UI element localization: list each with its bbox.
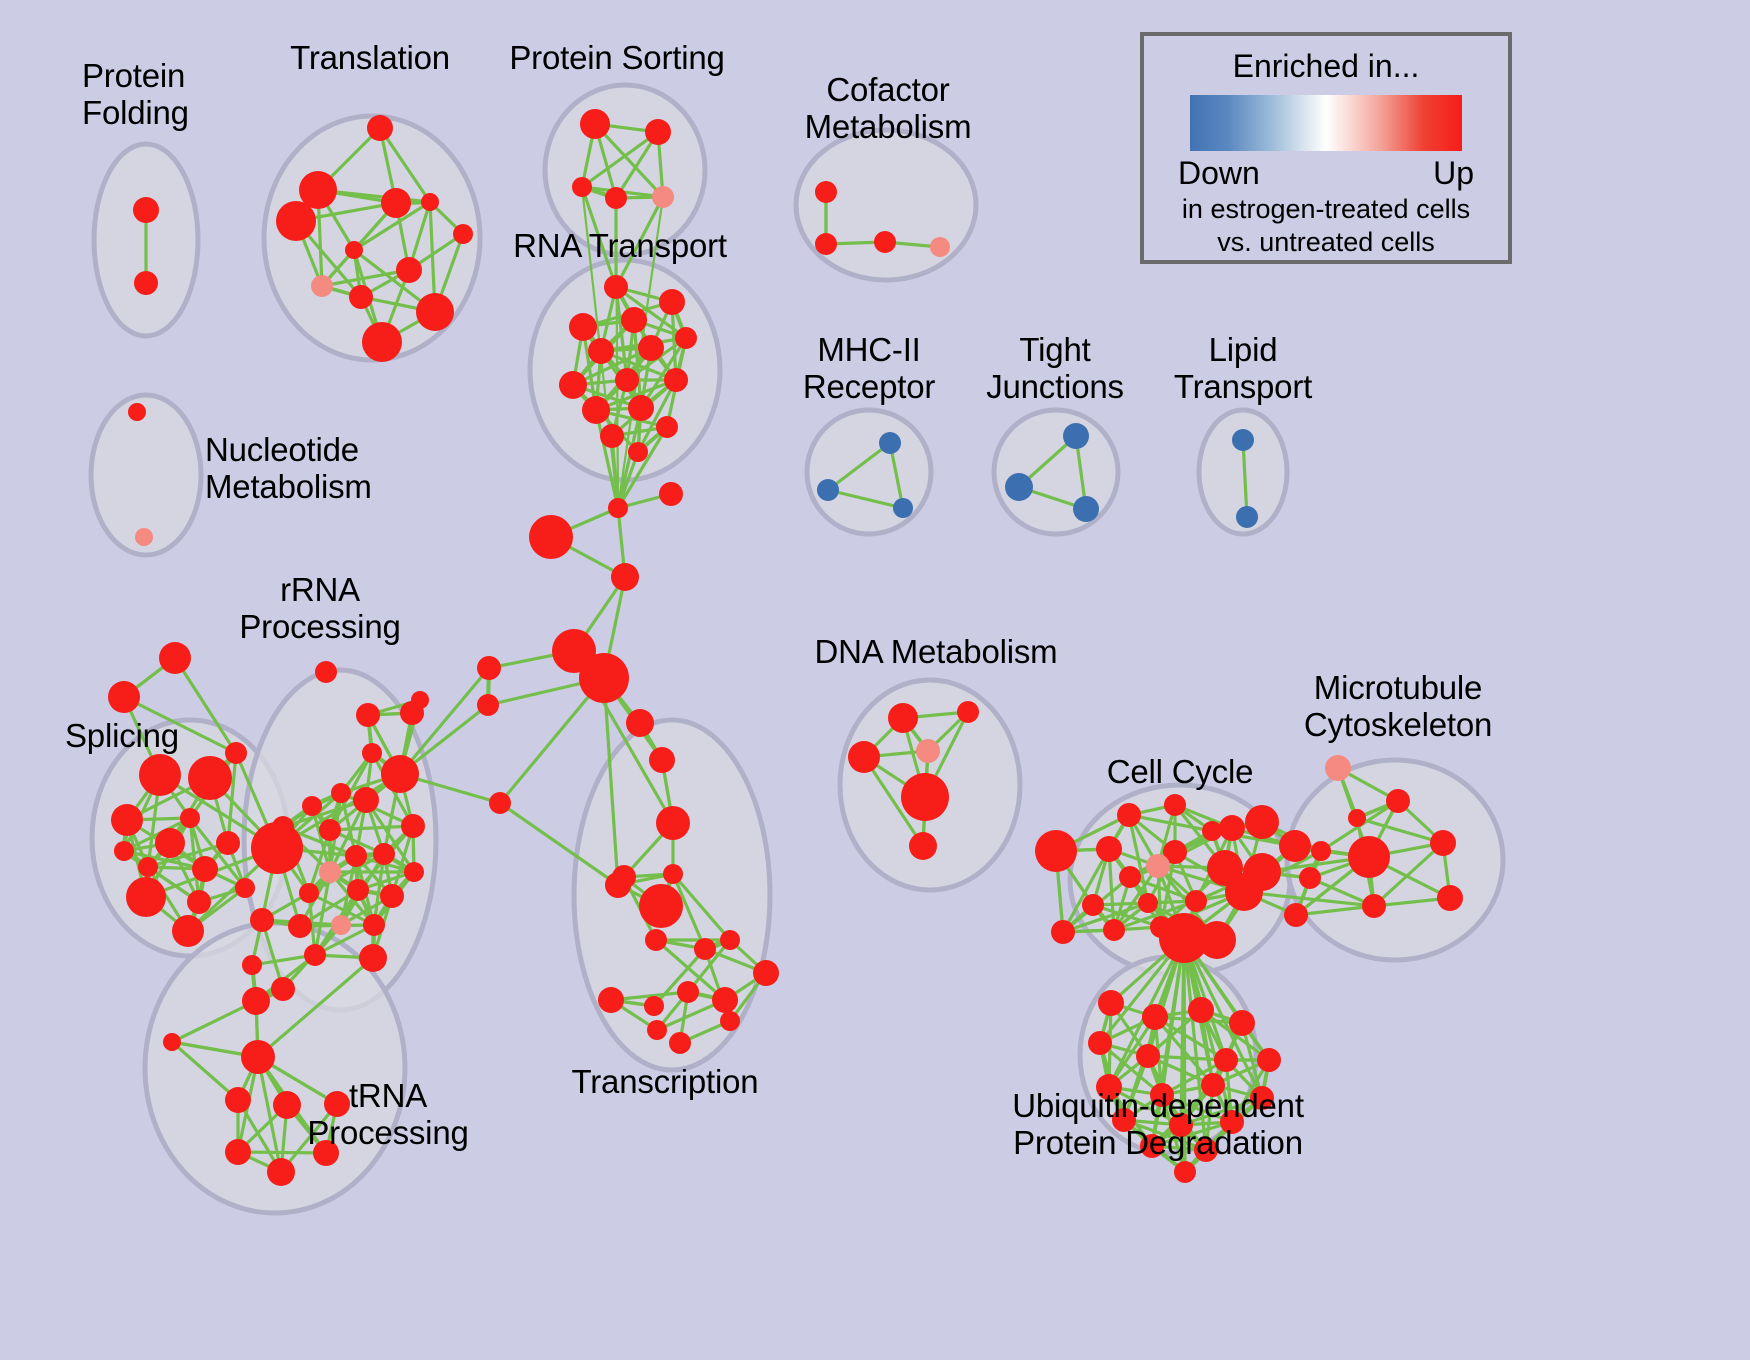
network-node-cell-cycle — [1082, 894, 1104, 916]
network-node-transcription — [694, 938, 716, 960]
network-node-splicing — [225, 742, 247, 764]
cluster-label-nucleotide-metabolism: Nucleotide Metabolism — [205, 432, 372, 506]
network-node-chain — [579, 653, 629, 703]
network-node-trna-processing — [225, 1087, 251, 1113]
network-node-translation — [311, 275, 333, 297]
network-node-rrna-processing — [331, 783, 351, 803]
network-node-cofactor-metabolism — [815, 181, 837, 203]
network-node-ubiquitin-protein-degradation — [1229, 1010, 1255, 1036]
network-node-cell-cycle — [1051, 920, 1075, 944]
network-node-microtubule-cytoskeleton — [1348, 809, 1366, 827]
network-node-transcription — [647, 1020, 667, 1040]
network-node-transcription — [626, 709, 654, 737]
network-node-rna-transport — [656, 416, 678, 438]
network-node-cell-cycle — [1119, 866, 1141, 888]
network-node-translation — [421, 193, 439, 211]
cluster-label-mhc-ii-receptor: MHC-II Receptor — [803, 332, 935, 406]
network-node-translation — [367, 115, 393, 141]
network-node-splicing — [192, 856, 218, 882]
network-node-translation — [362, 322, 402, 362]
cluster-label-microtubule-cytoskeleton: Microtubule Cytoskeleton — [1304, 670, 1492, 744]
legend-high-label: Up — [1433, 155, 1474, 192]
network-node-protein-sorting — [652, 186, 674, 208]
network-node-trna-processing — [225, 1139, 251, 1165]
network-node-cell-cycle — [1219, 815, 1245, 841]
cluster-label-rrna-processing: rRNA Processing — [239, 572, 400, 646]
network-node-rrna-processing — [401, 814, 425, 838]
network-node-rna-transport — [628, 442, 648, 462]
network-node-rna-transport — [569, 313, 597, 341]
network-node-rrna-processing — [345, 845, 367, 867]
network-node-splicing — [139, 754, 181, 796]
network-node-rna-transport — [588, 338, 614, 364]
network-node-rrna-processing — [319, 861, 341, 883]
network-node-trna-processing — [267, 1158, 295, 1186]
network-node-ubiquitin-protein-degradation — [1088, 1031, 1112, 1055]
network-node-rrna-processing — [315, 661, 337, 683]
network-node-cofactor-metabolism — [874, 231, 896, 253]
cluster-label-rna-transport: RNA Transport — [513, 228, 727, 265]
network-node-transcription — [656, 806, 690, 840]
network-node-transcription — [598, 987, 624, 1013]
cluster-label-transcription: Transcription — [572, 1064, 759, 1101]
network-node-cell-cycle — [1225, 873, 1263, 911]
cluster-label-lipid-transport: Lipid Transport — [1174, 332, 1312, 406]
network-node-cofactor-metabolism — [930, 237, 950, 257]
network-node-cell-cycle — [1185, 890, 1207, 912]
network-node-ubiquitin-protein-degradation — [1174, 1161, 1196, 1183]
network-node-splicing — [188, 756, 232, 800]
network-node-cell-cycle — [1279, 830, 1311, 862]
network-node-dna-metabolism — [901, 773, 949, 821]
network-node-chain — [477, 694, 499, 716]
network-node-splicing — [159, 642, 191, 674]
network-node-protein-sorting — [580, 109, 610, 139]
network-node-transcription — [753, 960, 779, 986]
network-node-ubiquitin-protein-degradation — [1136, 1044, 1160, 1068]
network-node-chain — [529, 515, 573, 559]
network-node-transcription — [720, 1011, 740, 1031]
network-node-tight-junctions — [1005, 473, 1033, 501]
network-node-rrna-processing — [353, 787, 379, 813]
cluster-label-tight-junctions: Tight Junctions — [986, 332, 1124, 406]
network-node-cell-cycle — [1096, 836, 1122, 862]
network-node-transcription — [663, 864, 683, 884]
network-node-transcription — [649, 747, 675, 773]
cluster-label-translation: Translation — [290, 40, 450, 77]
legend-endpoint-labels: Down Up — [1172, 153, 1480, 192]
network-node-mhc-ii-receptor — [879, 432, 901, 454]
network-node-dna-metabolism — [916, 739, 940, 763]
network-node-trna-processing — [241, 1040, 275, 1074]
cluster-label-dna-metabolism: DNA Metabolism — [815, 634, 1058, 671]
network-node-translation — [381, 188, 411, 218]
network-node-microtubule-cytoskeleton — [1430, 830, 1456, 856]
network-node-microtubule-cytoskeleton — [1437, 885, 1463, 911]
network-node-rrna-processing — [380, 884, 404, 908]
network-node-rrna-processing — [411, 691, 429, 709]
network-node-transcription — [669, 1032, 691, 1054]
cluster-label-protein-sorting: Protein Sorting — [509, 40, 724, 77]
network-node-splicing — [114, 841, 134, 861]
network-node-rrna-processing — [356, 703, 380, 727]
network-node-cell-cycle — [1164, 794, 1186, 816]
network-node-splicing — [138, 857, 158, 877]
network-node-rrna-processing — [404, 862, 424, 882]
network-node-rna-transport — [659, 289, 685, 315]
network-node-microtubule-cytoskeleton — [1362, 894, 1386, 918]
network-node-rrna-processing — [362, 743, 382, 763]
network-node-rrna-processing — [347, 879, 369, 901]
network-node-rna-transport — [621, 307, 647, 333]
network-node-splicing — [126, 877, 166, 917]
network-node-ubiquitin-protein-degradation — [1257, 1048, 1281, 1072]
network-node-translation — [276, 201, 316, 241]
legend-low-label: Down — [1178, 155, 1260, 192]
network-node-translation — [416, 293, 454, 331]
network-node-rrna-processing — [359, 944, 387, 972]
network-node-rrna-processing — [304, 944, 326, 966]
network-node-microtubule-cytoskeleton — [1348, 836, 1390, 878]
network-node-rna-transport — [582, 396, 610, 424]
network-node-transcription — [645, 929, 667, 951]
legend-color-gradient-bar — [1190, 95, 1462, 151]
network-node-cell-cycle — [1138, 893, 1158, 913]
network-node-chain — [608, 498, 628, 518]
network-node-cell-cycle — [1146, 854, 1170, 878]
network-node-splicing — [108, 681, 140, 713]
network-node-translation — [396, 257, 422, 283]
network-node-transcription — [677, 981, 699, 1003]
network-node-rrna-processing — [381, 755, 419, 793]
enrichment-map-figure: Protein FoldingTranslationProtein Sortin… — [0, 0, 1750, 1360]
network-node-microtubule-cytoskeleton — [1311, 841, 1331, 861]
network-node-chain — [659, 482, 683, 506]
network-node-protein-folding — [134, 271, 158, 295]
network-node-nucleotide-metabolism — [128, 403, 146, 421]
network-node-rna-transport — [615, 368, 639, 392]
network-node-mhc-ii-receptor — [817, 479, 839, 501]
network-node-nucleotide-metabolism — [135, 528, 153, 546]
cluster-label-trna-processing: tRNA Processing — [307, 1078, 468, 1152]
network-node-tight-junctions — [1073, 496, 1099, 522]
network-node-lipid-transport — [1236, 506, 1258, 528]
network-node-translation — [349, 285, 373, 309]
cluster-ellipse-cofactor-metabolism — [796, 130, 976, 280]
network-node-rrna-processing — [331, 915, 351, 935]
legend-box: Enriched in... Down Up in estrogen-treat… — [1140, 32, 1512, 264]
cluster-ellipse-tight-junctions — [994, 410, 1118, 534]
network-node-translation — [453, 224, 473, 244]
network-node-rrna-processing — [299, 883, 319, 903]
network-node-trna-processing — [242, 987, 270, 1015]
network-node-rna-transport — [559, 371, 587, 399]
network-node-cell-cycle — [1198, 921, 1236, 959]
network-node-microtubule-cytoskeleton — [1325, 755, 1351, 781]
network-node-chain — [477, 656, 501, 680]
network-edge — [238, 1152, 326, 1153]
network-node-microtubule-cytoskeleton — [1386, 789, 1410, 813]
network-node-rrna-processing — [302, 796, 322, 816]
network-node-cell-cycle — [1117, 803, 1141, 827]
network-node-rna-transport — [600, 424, 624, 448]
network-node-rna-transport — [628, 395, 654, 421]
network-node-chain — [611, 563, 639, 591]
network-node-rrna-processing — [363, 914, 385, 936]
legend-caption-line-1: in estrogen-treated cells — [1144, 194, 1508, 225]
network-node-protein-sorting — [572, 177, 592, 197]
cluster-label-cofactor-metabolism: Cofactor Metabolism — [805, 72, 972, 146]
network-node-microtubule-cytoskeleton — [1299, 867, 1321, 889]
network-node-translation — [345, 241, 363, 259]
network-node-rna-transport — [675, 327, 697, 349]
network-node-ubiquitin-protein-degradation — [1098, 990, 1124, 1016]
network-node-cell-cycle — [1202, 821, 1222, 841]
legend-caption-line-2: vs. untreated cells — [1144, 227, 1508, 258]
network-node-splicing — [111, 804, 143, 836]
network-node-rrna-processing — [288, 914, 312, 938]
network-node-ubiquitin-protein-degradation — [1214, 1048, 1238, 1072]
network-node-protein-sorting — [605, 187, 627, 209]
network-node-splicing — [155, 828, 185, 858]
network-node-rrna-processing — [250, 908, 274, 932]
network-node-transcription — [644, 996, 664, 1016]
cluster-label-splicing: Splicing — [65, 718, 179, 755]
network-node-splicing — [235, 878, 255, 898]
network-node-rna-transport — [638, 335, 664, 361]
network-node-lipid-transport — [1232, 429, 1254, 451]
network-node-protein-folding — [133, 197, 159, 223]
network-node-tight-junctions — [1063, 423, 1089, 449]
network-node-cofactor-metabolism — [815, 233, 837, 255]
network-node-trna-processing — [273, 1091, 301, 1119]
network-node-ubiquitin-protein-degradation — [1142, 1004, 1168, 1030]
network-node-rna-transport — [664, 368, 688, 392]
network-node-splicing — [172, 915, 204, 947]
network-node-rrna-processing — [242, 955, 262, 975]
cluster-label-cell-cycle: Cell Cycle — [1107, 754, 1254, 791]
legend-title: Enriched in... — [1144, 48, 1508, 85]
network-node-dna-metabolism — [909, 832, 937, 860]
network-node-cell-cycle — [1103, 919, 1125, 941]
network-node-splicing — [187, 890, 211, 914]
network-node-transcription — [720, 930, 740, 950]
network-node-splicing — [216, 831, 240, 855]
network-node-transcription — [605, 872, 631, 898]
cluster-label-protein-folding: Protein Folding — [82, 58, 189, 132]
cluster-ellipse-mhc-ii-receptor — [807, 410, 931, 534]
network-node-rna-transport — [604, 275, 628, 299]
network-node-ubiquitin-protein-degradation — [1188, 997, 1214, 1023]
network-node-dna-metabolism — [957, 701, 979, 723]
network-node-protein-sorting — [645, 119, 671, 145]
network-node-dna-metabolism — [848, 741, 880, 773]
network-node-rrna-processing — [271, 977, 295, 1001]
network-node-trna-processing — [163, 1033, 181, 1051]
network-node-chain — [489, 792, 511, 814]
network-node-dna-metabolism — [888, 703, 918, 733]
network-node-transcription — [639, 884, 683, 928]
network-node-splicing — [180, 808, 200, 828]
network-node-cell-cycle — [1245, 805, 1279, 839]
cluster-label-ubiquitin-protein-degradation: Ubiquitin-dependent Protein Degradation — [1012, 1088, 1304, 1162]
network-node-cell-cycle — [1035, 830, 1077, 872]
network-node-mhc-ii-receptor — [893, 498, 913, 518]
network-node-rrna-processing — [373, 843, 395, 865]
network-node-microtubule-cytoskeleton — [1284, 903, 1308, 927]
network-node-rrna-processing — [319, 819, 341, 841]
network-node-rrna-processing — [251, 822, 303, 874]
network-node-transcription — [712, 987, 738, 1013]
